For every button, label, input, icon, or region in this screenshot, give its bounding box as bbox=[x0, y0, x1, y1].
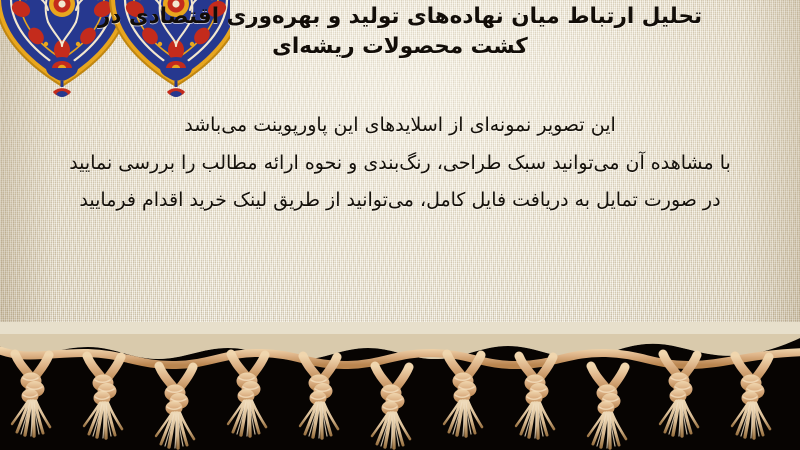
slide-title-line-1: تحلیل ارتباط میان نهاده‌های تولید و بهره… bbox=[30, 2, 770, 33]
body-line-1: این تصویر نمونه‌ای از اسلایدهای این پاور… bbox=[20, 107, 780, 145]
slide-canvas: تحلیل ارتباط میان نهاده‌های تولید و بهره… bbox=[0, 0, 800, 450]
slide-title-line-2: کشت محصولات ریشه‌ای bbox=[30, 32, 770, 63]
body-line-2: با مشاهده آن می‌توانید سبک طراحی، رنگ‌بن… bbox=[20, 145, 780, 183]
slide-body-text: این تصویر نمونه‌ای از اسلایدهای این پاور… bbox=[0, 107, 800, 220]
slide-title: تحلیل ارتباط میان نهاده‌های تولید و بهره… bbox=[0, 2, 800, 62]
body-line-3: در صورت تمایل به دریافت فایل کامل، می‌تو… bbox=[20, 182, 780, 220]
